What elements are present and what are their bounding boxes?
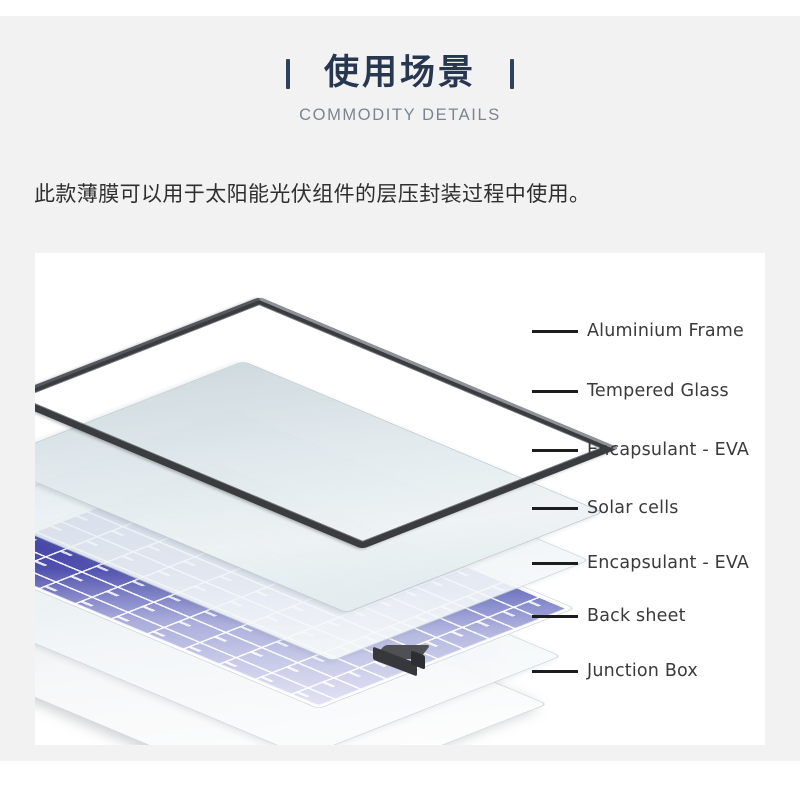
callout-solar-cells: Solar cells <box>532 497 679 519</box>
callout-list: Aluminium Frame Tempered Glass Encapsula… <box>35 253 765 745</box>
page-title: 使用场景 <box>324 56 476 91</box>
leader-line-icon <box>532 615 578 618</box>
leader-line-icon <box>532 449 578 452</box>
callout-aluminium-frame: Aluminium Frame <box>532 320 744 342</box>
exploded-view-figure: Aluminium Frame Tempered Glass Encapsula… <box>35 253 765 745</box>
leader-line-icon <box>532 562 578 565</box>
callout-tempered-glass: Tempered Glass <box>532 380 729 402</box>
callout-back-sheet: Back sheet <box>532 605 686 627</box>
leader-line-icon <box>532 670 578 673</box>
callout-label: Encapsulant - EVA <box>587 440 749 460</box>
leader-line-icon <box>532 507 578 510</box>
page-subtitle: COMMODITY DETAILS <box>0 106 800 125</box>
callout-label: Junction Box <box>587 661 698 681</box>
lead-paragraph: 此款薄膜可以用于太阳能光伏组件的层压封装过程中使用。 <box>34 178 764 208</box>
leader-line-icon <box>532 390 578 393</box>
product-detail-page: 使用场景 COMMODITY DETAILS 此款薄膜可以用于太阳能光伏组件的层… <box>0 0 800 800</box>
leader-line-icon <box>532 330 578 333</box>
title-row: 使用场景 <box>0 56 800 91</box>
decorative-bar-right-icon <box>510 59 514 89</box>
callout-label: Aluminium Frame <box>587 321 744 341</box>
callout-encapsulant-eva-top: Encapsulant - EVA <box>532 439 749 461</box>
callout-encapsulant-eva-bottom: Encapsulant - EVA <box>532 552 749 574</box>
callout-label: Tempered Glass <box>587 381 729 401</box>
callout-label: Encapsulant - EVA <box>587 553 749 573</box>
decorative-bar-left-icon <box>286 59 290 89</box>
section-header: 使用场景 COMMODITY DETAILS <box>0 56 800 125</box>
callout-label: Solar cells <box>587 498 679 518</box>
callout-label: Back sheet <box>587 606 686 626</box>
callout-junction-box: Junction Box <box>532 660 698 682</box>
